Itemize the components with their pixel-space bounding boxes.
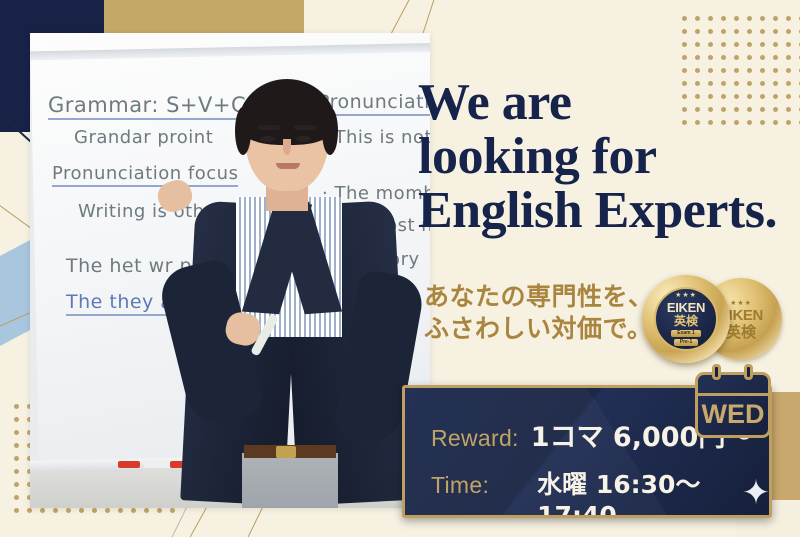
grid-dot [721,68,726,73]
grid-dot [773,29,778,34]
teacher-figure [180,63,430,508]
eye-right [296,136,311,142]
grid-dot [682,55,687,60]
grid-dot [747,68,752,73]
badge-grade-pre1: Pre-1 [674,339,699,346]
mouth [276,163,300,169]
badge-stars: ★★★ [675,292,697,300]
badge-title-jp: 英検 [674,315,698,328]
grid-dot [118,508,123,513]
grid-dot [682,68,687,73]
red-marker [118,461,140,468]
badge-inner-disc: ★★★ EIKEN 英検 Exam 1 Pre-1 [654,287,718,351]
grid-dot [747,55,752,60]
grid-dot [708,68,713,73]
grid-dot [144,508,149,513]
grid-dot [695,68,700,73]
grid-dot [14,456,19,461]
grid-dot [14,495,19,500]
grid-dot [760,68,765,73]
grid-dot [773,68,778,73]
grid-dot [734,16,739,21]
grid-dot [786,68,791,73]
eyebrow-left [258,125,280,130]
grid-dot [786,55,791,60]
subhead: あなたの専門性を、 ふさわしい対価で。 [424,281,654,345]
grid-dot [708,42,713,47]
grid-dot [695,42,700,47]
badge-grade-exam1: Exam 1 [671,330,701,337]
badge-title: EIKEN [667,301,705,314]
grid-dot [14,443,19,448]
grid-dot [708,29,713,34]
calendar-ring-right [744,364,753,380]
grid-dot [721,29,726,34]
calendar-ring-left [712,364,721,380]
headline-line-1: We are [418,76,796,130]
grid-dot [747,42,752,47]
grid-dot [53,508,58,513]
teacher-photo: Grammar: S+V+C Grandar proint Pronunciat… [30,33,430,508]
time-row: Time: 水曜 16:30〜17:40 [431,465,769,518]
grid-dot [721,16,726,21]
grid-dot [14,469,19,474]
grid-dot [760,16,765,21]
grid-dot [773,42,778,47]
grid-dot [14,430,19,435]
grid-dot [131,508,136,513]
grid-dot [747,29,752,34]
hair-side-left [235,107,251,155]
grid-dot [760,42,765,47]
grid-dot [760,29,765,34]
hair-side-right [322,107,338,155]
headline-line-2: looking for [418,130,796,184]
grid-dot [721,42,726,47]
grid-dot [786,29,791,34]
calendar-icon: WED [695,372,771,438]
belt-buckle [276,446,296,458]
grid-dot [157,508,162,513]
headline-line-3: English Experts. [418,184,796,238]
grid-dot [170,508,175,513]
grid-dot [695,29,700,34]
grid-dot [708,55,713,60]
eiken-badge-primary: ★★★ EIKEN 英検 Exam 1 Pre-1 [642,275,730,363]
grid-dot [27,508,32,513]
grid-dot [773,55,778,60]
grid-dot [734,55,739,60]
grid-dot [708,16,713,21]
trousers [242,453,338,508]
time-label: Time: [431,472,489,499]
grid-dot [682,16,687,21]
eyebrow-right [294,125,316,130]
grid-dot [14,404,19,409]
eye-left [260,136,275,142]
grid-dot [682,29,687,34]
grid-dot [79,508,84,513]
sparkle-icon: ✦ [739,476,772,510]
subhead-line-2: ふさわしい対価で。 [424,313,654,345]
grid-dot [14,482,19,487]
grid-dot [66,508,71,513]
grid-dot [786,16,791,21]
grid-dot [773,16,778,21]
badge-title-jp: 英検 [726,324,756,340]
calendar-day-label: WED [702,393,765,435]
grid-dot [682,42,687,47]
grid-dot [721,55,726,60]
grid-dot [14,417,19,422]
grid-dot [734,29,739,34]
grid-dot [734,68,739,73]
time-value: 水曜 16:30〜17:40 [537,465,769,518]
grid-dot [760,55,765,60]
nose [283,139,291,155]
grid-dot [105,508,110,513]
reward-label: Reward: [431,425,519,452]
grid-dot [695,55,700,60]
grid-dot [40,508,45,513]
grid-dot [695,16,700,21]
grid-dot [92,508,97,513]
grid-dot [786,42,791,47]
calendar-divider [698,393,768,396]
subhead-line-1: あなたの専門性を、 [424,281,654,313]
grid-dot [734,42,739,47]
recruitment-banner: Grammar: S+V+C Grandar proint Pronunciat… [0,0,800,537]
headline: We are looking for English Experts. [418,76,796,238]
grid-dot [14,508,19,513]
grid-dot [747,16,752,21]
